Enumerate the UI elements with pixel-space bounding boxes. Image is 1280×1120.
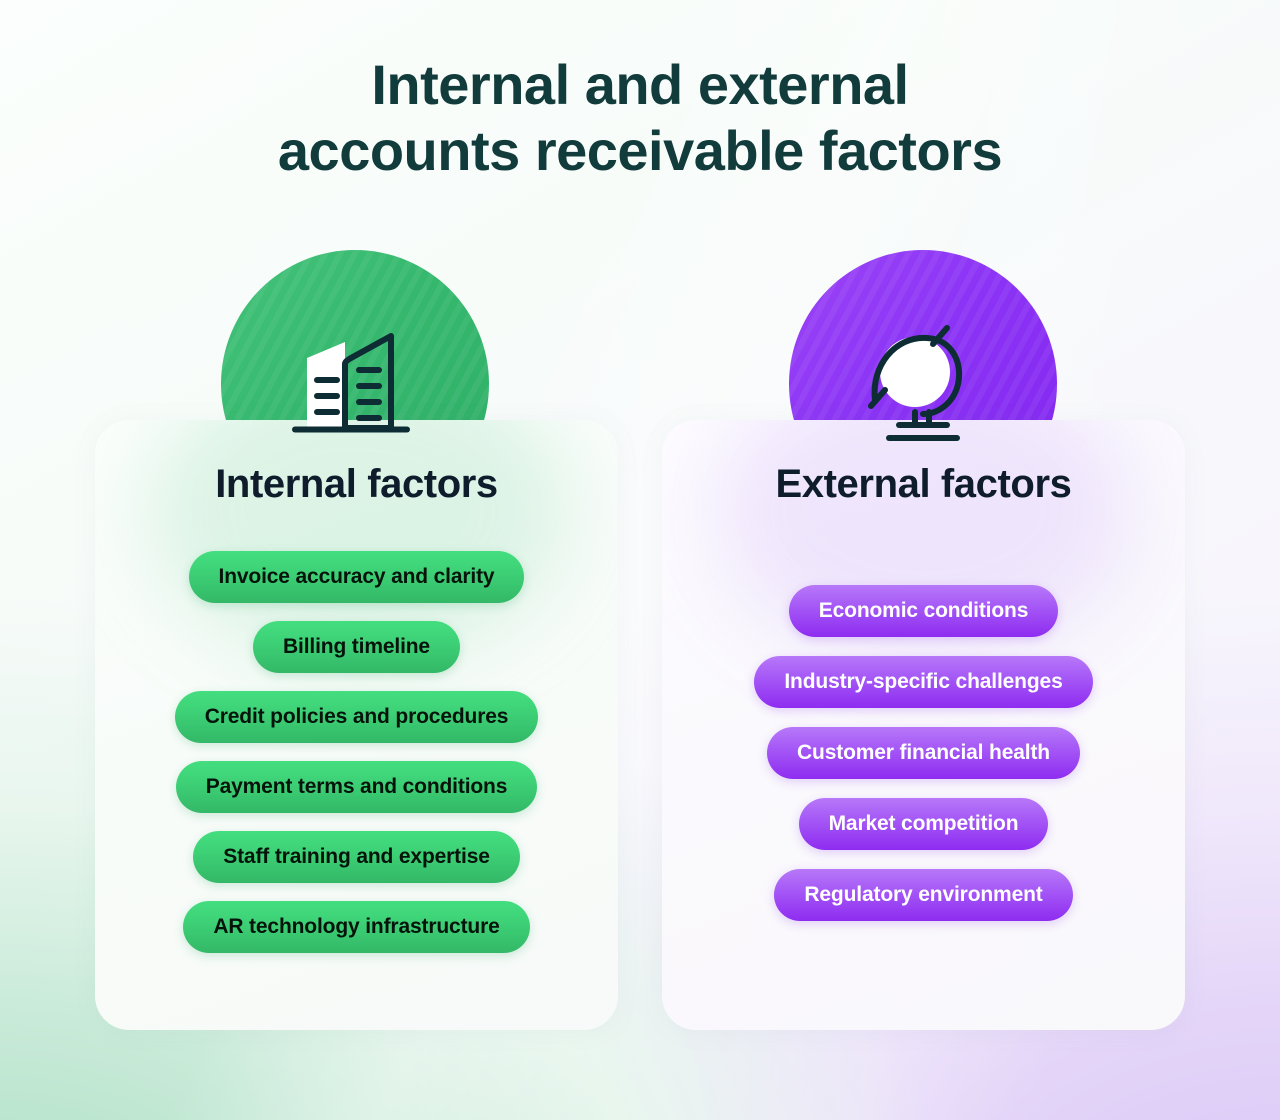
external-factors-card: External factors Economic conditions Ind… (662, 420, 1185, 1030)
page-title-line-1: Internal and external (0, 52, 1280, 118)
list-item[interactable]: AR technology infrastructure (183, 901, 529, 953)
list-item[interactable]: Customer financial health (767, 727, 1080, 779)
page-title: Internal and external accounts receivabl… (0, 52, 1280, 184)
external-factors-list: Economic conditions Industry-specific ch… (662, 585, 1185, 921)
list-item[interactable]: Credit policies and procedures (175, 691, 539, 743)
list-item[interactable]: Regulatory environment (774, 869, 1072, 921)
desk-globe-icon (859, 322, 987, 446)
list-item[interactable]: Billing timeline (253, 621, 460, 673)
list-item[interactable]: Staff training and expertise (193, 831, 520, 883)
list-item[interactable]: Invoice accuracy and clarity (189, 551, 525, 603)
external-factors-heading: External factors (662, 462, 1185, 507)
list-item[interactable]: Economic conditions (789, 585, 1059, 637)
office-buildings-icon (289, 324, 421, 444)
list-item[interactable]: Market competition (799, 798, 1049, 850)
internal-factors-card: Internal factors Invoice accuracy and cl… (95, 420, 618, 1030)
internal-factors-list: Invoice accuracy and clarity Billing tim… (95, 551, 618, 953)
page-title-line-2: accounts receivable factors (0, 118, 1280, 184)
internal-factors-heading: Internal factors (95, 462, 618, 507)
list-item[interactable]: Payment terms and conditions (176, 761, 538, 813)
list-item[interactable]: Industry-specific challenges (754, 656, 1092, 708)
